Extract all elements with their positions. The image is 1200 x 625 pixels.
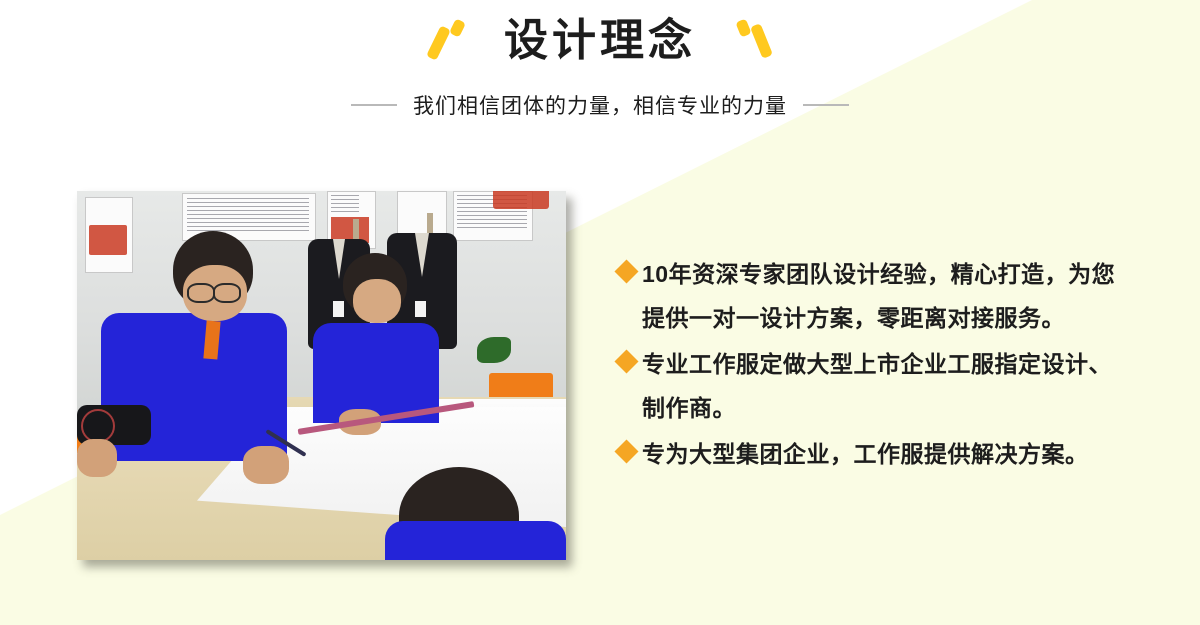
diamond-bullet-icon — [614, 349, 638, 373]
rule-right — [803, 104, 849, 106]
selling-points-list: 10年资深专家团队设计经验，精心打造，为您 提供一对一设计方案，零距离对接服务。… — [618, 252, 1178, 478]
point-line: 制作商。 — [642, 395, 736, 421]
double-slash-ornament-left-icon — [426, 16, 470, 62]
jacket-price-tag-2 — [415, 301, 426, 317]
point-line: 10年资深专家团队设计经验，精心打造，为您 — [642, 261, 1115, 287]
worker-right-face — [353, 279, 401, 323]
diamond-bullet-icon — [614, 439, 638, 463]
banner-header: 设计理念 我们相信团体的力量，相信专业的力量 — [0, 0, 1200, 120]
point-line: 专为大型集团企业，工作服提供解决方案。 — [642, 441, 1089, 467]
ornament-bar-long — [750, 23, 773, 59]
worker-right-uniform — [313, 323, 439, 423]
ornament-bar-long — [426, 25, 451, 60]
foreground-person-uniform — [385, 521, 566, 560]
list-item: 专为大型集团企业，工作服提供解决方案。 — [618, 432, 1178, 476]
list-item: 专业工作服定做大型上市企业工服指定设计、 制作商。 — [618, 342, 1178, 430]
subtitle-row: 我们相信团体的力量，相信专业的力量 — [0, 90, 1200, 120]
wall-poster-1-image — [89, 225, 127, 255]
wall-sign-red — [493, 191, 549, 209]
list-item: 10年资深专家团队设计经验，精心打造，为您 提供一对一设计方案，零距离对接服务。 — [618, 252, 1178, 340]
diamond-bullet-icon — [614, 259, 638, 283]
hand-writing — [243, 446, 289, 484]
wall-poster-2-text — [187, 198, 309, 232]
ornament-bar-short — [449, 18, 466, 37]
wall-poster-3-text — [331, 195, 359, 213]
title-row: 设计理念 — [0, 0, 1200, 78]
camera-lens-ring — [81, 409, 115, 443]
page-subtitle: 我们相信团体的力量，相信专业的力量 — [413, 90, 787, 120]
worker-left-glasses — [187, 283, 215, 303]
team-design-photo — [77, 191, 566, 560]
double-slash-ornament-right-icon — [730, 16, 774, 62]
hand-holding-camera — [77, 439, 117, 477]
point-line: 专业工作服定做大型上市企业工服指定设计、 — [642, 351, 1112, 377]
point-line: 提供一对一设计方案，零距离对接服务。 — [642, 305, 1065, 331]
page-title: 设计理念 — [504, 19, 696, 63]
worker-left-glasses-right-lens — [213, 283, 241, 303]
ornament-bar-short — [735, 19, 751, 38]
point-text: 10年资深专家团队设计经验，精心打造，为您 提供一对一设计方案，零距离对接服务。 — [642, 252, 1115, 340]
rule-left — [351, 104, 397, 106]
jacket-price-tag-1 — [333, 301, 344, 317]
design-philosophy-banner: 设计理念 我们相信团体的力量，相信专业的力量 — [0, 0, 1200, 625]
point-text: 专为大型集团企业，工作服提供解决方案。 — [642, 432, 1089, 476]
green-plant — [477, 337, 511, 363]
photo-scene — [77, 191, 566, 560]
point-text: 专业工作服定做大型上市企业工服指定设计、 制作商。 — [642, 342, 1112, 430]
